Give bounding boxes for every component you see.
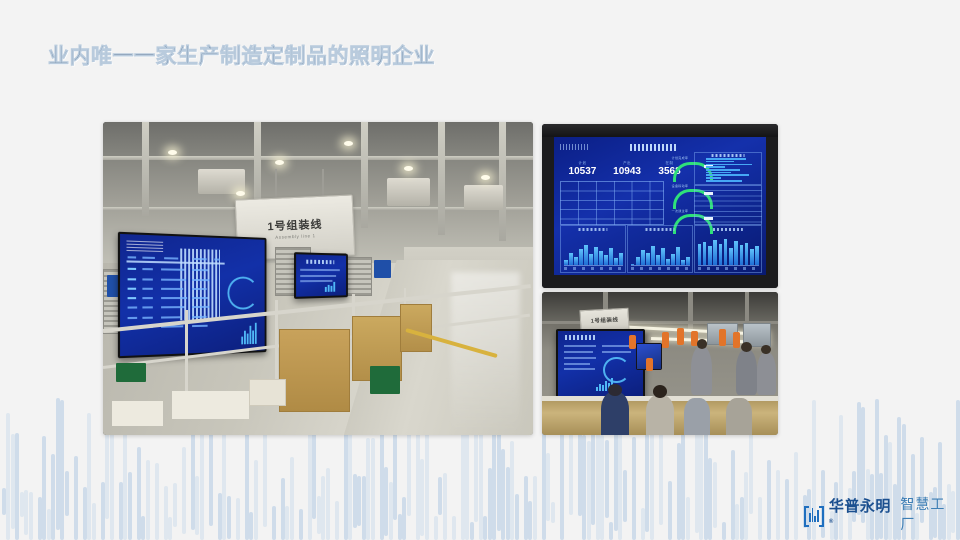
seated-worker	[601, 392, 629, 435]
decorative-bar	[722, 522, 726, 540]
decorative-bar	[438, 477, 442, 515]
decorative-bar	[60, 400, 64, 540]
dashboard-cell	[192, 269, 208, 271]
chart-line-output-trend	[560, 225, 626, 272]
decorative-bar	[141, 516, 145, 540]
cardboard-box	[249, 379, 285, 406]
decorative-bar	[713, 462, 717, 528]
decorative-bar	[434, 516, 438, 540]
seated-worker	[646, 395, 674, 435]
decorative-bar	[285, 506, 289, 540]
gloved-hand-raised	[677, 328, 684, 345]
dashboard-cell	[161, 297, 188, 299]
decorative-bar	[110, 429, 114, 540]
photo-factory-assembly-line-aisle: 1号组装线 Assembly line 1	[103, 122, 533, 435]
dashboard-cell	[161, 316, 182, 318]
chart-line-output-trend-bars	[564, 236, 623, 265]
dashboard-cell	[161, 268, 185, 270]
overhead-sign-label-cn: 1号组装线	[267, 216, 323, 234]
seated-worker	[726, 398, 752, 435]
decorative-bar	[6, 413, 10, 540]
decorative-bar	[42, 436, 46, 540]
dashboard-title-text	[307, 260, 334, 265]
seated-worker	[684, 398, 710, 435]
photo-workers-at-assembly-line: 1号组装线	[542, 292, 778, 435]
decorative-bar	[92, 503, 96, 540]
ceiling-strip	[542, 124, 778, 137]
dashboard-table-row	[564, 351, 593, 353]
decorative-bar	[74, 456, 78, 540]
sign-hanger-rod	[275, 169, 277, 200]
chart-order-ranking-title	[711, 154, 744, 156]
dashboard-cell	[128, 316, 137, 318]
decorative-bar	[227, 496, 231, 539]
dashboard-screen: 计划 10537 产出 10943 在制 3568 计划完成率 设备稼动率	[554, 137, 766, 275]
decorative-bar	[371, 438, 375, 540]
ceiling-beam	[103, 156, 533, 160]
decorative-bar	[546, 453, 550, 521]
decorative-bar	[222, 419, 226, 540]
dashboard-screen	[120, 234, 265, 356]
decorative-bar	[173, 483, 177, 527]
stacked-material	[172, 391, 249, 419]
dashboard-table-row	[602, 351, 631, 353]
decorative-bar	[263, 424, 267, 527]
dashboard-bar-chart	[325, 281, 335, 292]
ceiling-lamp	[168, 150, 177, 155]
chart-tick-labels	[631, 267, 690, 270]
decorative-bar	[249, 512, 253, 540]
decorative-bar	[236, 498, 240, 540]
decorative-bar	[155, 463, 159, 540]
decorative-bar	[645, 434, 649, 532]
gloved-hand-raised	[629, 335, 636, 349]
decorative-bar	[600, 435, 604, 540]
green-bin	[116, 363, 146, 382]
dashboard-cell	[161, 287, 183, 289]
decorative-bar	[326, 468, 330, 540]
brand-logo: 华普永明® 智慧工厂	[804, 494, 960, 534]
ceiling-column	[438, 122, 445, 235]
gloved-hand-raised	[733, 332, 740, 348]
gauge-3-label: 一次通过率	[672, 209, 689, 213]
chart-section-output-title	[713, 228, 743, 232]
dashboard-cell	[142, 297, 153, 299]
line-side-panel	[400, 304, 432, 353]
decorative-bar	[551, 502, 555, 523]
dashboard-screen	[296, 255, 346, 297]
dashboard-cell	[128, 287, 136, 289]
seated-worker-head	[653, 385, 667, 398]
dashboard-matrix-table	[560, 181, 664, 224]
decorative-bar	[492, 418, 496, 540]
dashboard-cell	[142, 316, 153, 318]
decorative-bar	[402, 497, 406, 540]
ceiling-column	[361, 122, 368, 228]
dashboard-table-row	[301, 269, 341, 271]
ventilation-duct	[464, 185, 503, 210]
decorative-bar	[785, 479, 789, 540]
dashboard-cell	[161, 278, 186, 280]
decorative-bar	[605, 440, 609, 518]
decorative-bar	[384, 467, 388, 536]
chart-tick-labels	[698, 267, 759, 270]
dashboard-cell	[128, 297, 136, 299]
decorative-bar	[533, 476, 537, 540]
decorative-bar	[123, 429, 127, 540]
ventilation-duct	[387, 178, 430, 206]
gloved-hand-raised	[646, 358, 653, 371]
chart-axis	[631, 265, 690, 266]
dashboard-header-cell	[215, 259, 221, 261]
decorative-bar	[744, 472, 748, 540]
photo-production-dashboard-screen: 计划 10537 产出 10943 在制 3568 计划完成率 设备稼动率	[542, 124, 778, 288]
decorative-bar	[510, 441, 514, 540]
dashboard-table-row	[564, 357, 596, 359]
chart-axis	[564, 265, 623, 266]
dashboard-cell	[192, 306, 209, 308]
dashboard-title-text	[630, 144, 677, 151]
chart-axis	[698, 265, 759, 266]
decorative-bar	[182, 447, 186, 534]
worker-head	[741, 342, 752, 352]
decorative-bar	[767, 460, 771, 540]
dashboard-cell	[192, 324, 208, 326]
ceiling-lamp	[344, 141, 353, 146]
worker	[757, 352, 776, 395]
dashboard-cell	[128, 268, 136, 270]
decorative-bar	[321, 476, 325, 540]
decorative-bar	[146, 460, 150, 540]
decorative-bar	[735, 504, 739, 540]
slide-canvas: 业内唯一一家生产制造定制品的照明企业	[0, 0, 960, 540]
decorative-bar	[528, 501, 532, 540]
decorative-bar	[168, 517, 172, 540]
decorative-bar	[290, 457, 294, 540]
decorative-bar	[623, 470, 627, 522]
dashboard-header-cell	[193, 258, 206, 260]
chart-downtime-stats-bars	[631, 236, 690, 265]
dashboard-header-cell	[142, 257, 154, 259]
decorative-bar	[609, 522, 613, 540]
decorative-bar	[483, 516, 487, 540]
dashboard-logo	[560, 144, 590, 150]
ceiling-column	[499, 122, 506, 241]
decorative-bar	[128, 472, 132, 540]
blue-parts-bin	[374, 260, 391, 279]
dashboard-cell	[142, 306, 153, 308]
dashboard-cell	[142, 287, 153, 289]
worker	[736, 349, 757, 395]
decorative-bar	[209, 432, 213, 526]
decorative-bar	[668, 481, 672, 540]
green-bin	[370, 366, 400, 394]
ceiling-structure	[542, 292, 778, 323]
ceiling-column	[142, 122, 149, 216]
chart-line-output-trend-title	[578, 228, 607, 232]
chart-downtime-stats-title	[645, 228, 674, 232]
production-dashboard-monitor	[118, 231, 267, 357]
decorative-bar	[393, 426, 397, 520]
decorative-bar	[299, 509, 303, 540]
decorative-bar	[348, 421, 352, 540]
overhead-sign-label-en: Assembly line 1	[275, 233, 316, 240]
gloved-hand-raised	[662, 332, 669, 348]
dashboard-logo	[127, 240, 164, 252]
chart-downtime-stats	[627, 225, 693, 272]
kpi-output-value: 10943	[609, 166, 645, 177]
registered-mark: ®	[829, 519, 834, 525]
gloved-hand-raised	[719, 329, 726, 346]
page-title: 业内唯一一家生产制造定制品的照明企业	[48, 40, 435, 70]
dashboard-header-cell	[128, 256, 136, 258]
secondary-dashboard-monitor	[294, 253, 348, 299]
dashboard-table-row	[564, 345, 596, 347]
decorative-bar	[776, 470, 780, 540]
dashboard-gauge-ring	[228, 276, 259, 309]
decorative-bar	[87, 413, 91, 540]
dashboard-cell	[128, 307, 137, 309]
dashboard-table-row	[564, 368, 595, 370]
decorative-bar	[681, 433, 685, 540]
dashboard-table-row	[564, 363, 589, 365]
stacked-material	[112, 401, 164, 426]
overhead-sign-label-cn: 1号组装线	[590, 315, 618, 324]
kpi-plan-value: 10537	[564, 166, 600, 177]
decorative-bar	[420, 459, 424, 536]
chart-order-ranking	[694, 152, 762, 184]
dashboard-cell	[192, 278, 209, 280]
dashboard-cell	[192, 297, 208, 299]
chart-section-output	[694, 225, 762, 272]
decorative-bar	[443, 473, 447, 540]
brand-name-text: 华普永明	[829, 498, 891, 515]
brand-suffix: 智慧工厂	[900, 494, 960, 534]
line-side-panel	[279, 329, 350, 412]
ceiling-lamp	[404, 166, 413, 171]
worker	[691, 346, 712, 395]
bracket-bars-icon	[804, 506, 824, 523]
dashboard-cell	[192, 315, 206, 317]
decorative-bar	[632, 437, 636, 540]
decorative-bar	[195, 476, 199, 535]
decorative-bar	[24, 490, 28, 535]
decorative-bar	[29, 492, 33, 540]
decorative-bar	[425, 424, 429, 540]
ceiling-lamp	[236, 191, 245, 196]
gauge-2-label: 设备稼动率	[672, 184, 689, 188]
dashboard-header-cell	[164, 257, 179, 259]
decorative-bar	[758, 497, 762, 540]
decorative-bar	[65, 471, 69, 516]
ceiling-lamp	[275, 160, 284, 165]
decorative-bar	[335, 501, 339, 540]
decorative-bar	[15, 433, 19, 540]
kpi-plan: 计划 10537	[564, 161, 600, 177]
decorative-bar	[254, 460, 258, 540]
gauge-1-label: 计划完成率	[672, 156, 689, 160]
ceiling-column	[688, 292, 693, 329]
decorative-bar	[794, 452, 798, 540]
decorative-bar	[582, 435, 586, 540]
decorative-bar	[366, 438, 370, 540]
kpi-output: 产出 10943	[609, 161, 645, 177]
decorative-bar	[51, 454, 55, 540]
chart-tick-labels	[564, 267, 623, 270]
decorative-bar	[501, 449, 505, 540]
brand-name: 华普永明®	[829, 495, 896, 533]
dashboard-bar-chart	[242, 321, 257, 344]
dashboard-order-table	[694, 185, 762, 224]
dashboard-table-row	[301, 275, 337, 277]
decorative-bar	[470, 522, 474, 540]
dashboard-cell	[142, 278, 153, 280]
chart-section-output-bars	[698, 236, 759, 265]
dashboard-title-text	[565, 335, 596, 340]
decorative-bar	[452, 516, 456, 540]
dashboard-cell	[161, 306, 185, 308]
decorative-bar	[686, 497, 690, 540]
decorative-bar	[749, 434, 753, 514]
decorative-bar	[272, 506, 276, 540]
decorative-bar	[357, 476, 361, 526]
decorative-bar	[515, 494, 519, 540]
dashboard-cell	[192, 288, 206, 290]
dashboard-cell	[128, 278, 136, 280]
decorative-bar	[708, 458, 712, 540]
worker-head	[761, 345, 770, 354]
parts-rack	[344, 257, 372, 297]
dashboard-cell	[142, 268, 153, 270]
